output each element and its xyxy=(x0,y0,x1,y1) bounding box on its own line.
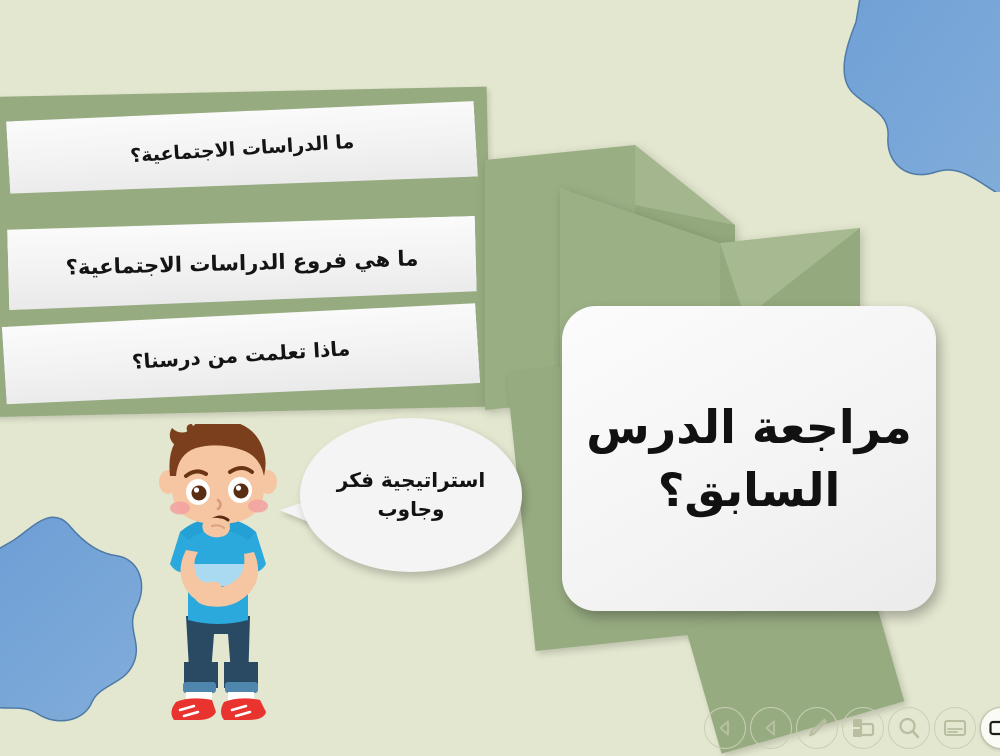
speech-bubble-body xyxy=(300,418,522,572)
whiteboard-icon[interactable] xyxy=(934,707,976,749)
page-title: مراجعة الدرس السابق؟ xyxy=(562,396,936,520)
video-camera-icon[interactable] xyxy=(980,707,1000,749)
question-strip-1-text: ما الدراسات الاجتماعية؟ xyxy=(129,131,354,167)
zoom-icon[interactable] xyxy=(888,707,930,749)
bottom-toolbar xyxy=(704,704,1000,752)
question-strip-2-text: ما هي فروع الدراسات الاجتماعية؟ xyxy=(65,246,418,279)
thinking-boy-illustration xyxy=(128,424,308,734)
next-slide-icon[interactable] xyxy=(704,707,746,749)
strategy-label: استراتيجية فكر وجاوب xyxy=(300,418,522,572)
previous-slide-icon[interactable] xyxy=(750,707,792,749)
layers-icon[interactable] xyxy=(842,707,884,749)
blue-blob-top-right xyxy=(826,0,1000,192)
slide-canvas: ما الدراسات الاجتماعية؟ ما هي فروع الدرا… xyxy=(0,0,1000,756)
lesson-title-card[interactable]: مراجعة الدرس السابق؟ xyxy=(562,306,936,611)
strategy-speech-bubble: استراتيجية فكر وجاوب xyxy=(300,418,522,572)
question-strip-3-text: ماذا تعلمت من درسنا؟ xyxy=(131,336,351,374)
pen-tool-icon[interactable] xyxy=(796,707,838,749)
